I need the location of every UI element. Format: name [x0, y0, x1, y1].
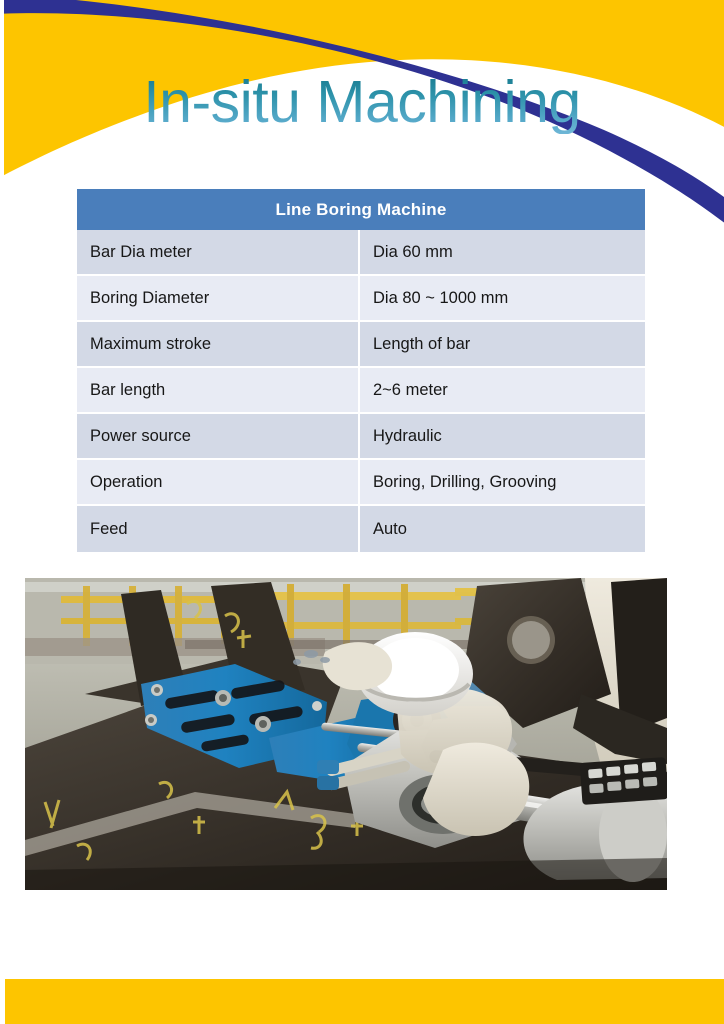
page-title: In-situ Machining — [0, 72, 724, 134]
row-value: Hydraulic — [360, 414, 645, 460]
table-row: Boring Diameter Dia 80 ~ 1000 mm — [77, 276, 645, 322]
row-value: Length of bar — [360, 322, 645, 368]
row-label: Operation — [77, 460, 360, 506]
row-value: Auto — [360, 506, 645, 552]
machining-photo: Line boring machine mounted on a blue fi… — [25, 578, 667, 890]
row-label: Bar length — [77, 368, 360, 414]
table-row: Bar length 2~6 meter — [77, 368, 645, 414]
row-label: Maximum stroke — [77, 322, 360, 368]
row-label: Feed — [77, 506, 360, 552]
table-title-cell: Line Boring Machine — [77, 189, 645, 230]
slide-page: In-situ Machining Line Boring Machine Ba… — [0, 0, 724, 1024]
row-label: Power source — [77, 414, 360, 460]
table-row: Bar Dia meter Dia 60 mm — [77, 230, 645, 276]
row-value: Dia 60 mm — [360, 230, 645, 276]
table-row: Operation Boring, Drilling, Grooving — [77, 460, 645, 506]
row-value: 2~6 meter — [360, 368, 645, 414]
specification-table: Line Boring Machine Bar Dia meter Dia 60… — [77, 189, 645, 552]
table-row: Maximum stroke Length of bar — [77, 322, 645, 368]
row-label: Boring Diameter — [77, 276, 360, 322]
row-value: Dia 80 ~ 1000 mm — [360, 276, 645, 322]
table-body: Bar Dia meter Dia 60 mm Boring Diameter … — [77, 230, 645, 552]
row-label: Bar Dia meter — [77, 230, 360, 276]
row-value: Boring, Drilling, Grooving — [360, 460, 645, 506]
table-row: Feed Auto — [77, 506, 645, 552]
table-header-row: Line Boring Machine — [77, 189, 645, 230]
footer-bar — [5, 979, 724, 1024]
table-row: Power source Hydraulic — [77, 414, 645, 460]
